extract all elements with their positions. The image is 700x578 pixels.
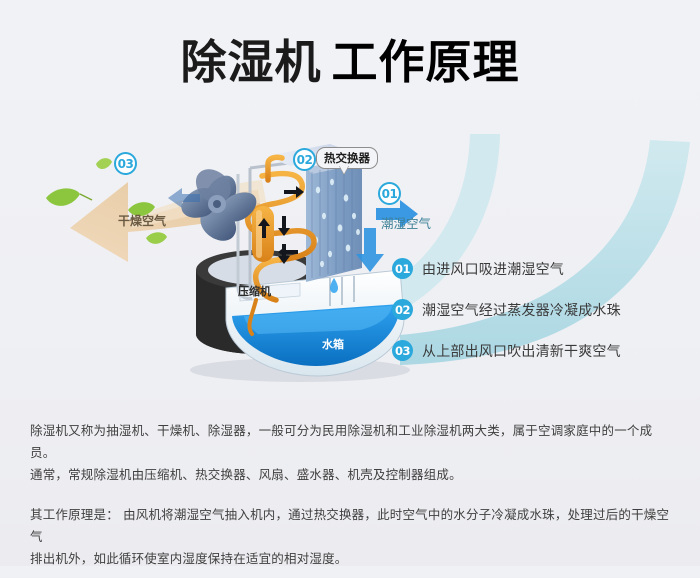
step-text: 潮湿空气经过蒸发器冷凝成水珠 bbox=[422, 300, 621, 320]
step-badge: 01 bbox=[392, 258, 413, 279]
label-dry-air: 干燥空气 bbox=[118, 212, 166, 229]
evaporator-graphic bbox=[306, 156, 368, 282]
description-block: 除湿机又称为抽湿机、干燥机、除湿器，一般可分为民用除湿机和工业除湿机两大类，属于… bbox=[30, 420, 675, 578]
page-title: 除湿机工作原理 bbox=[0, 34, 700, 90]
label-humid-air: 潮湿空气 bbox=[381, 213, 431, 232]
list-item: 02 潮湿空气经过蒸发器冷凝成水珠 bbox=[392, 299, 692, 320]
paragraph-2-line-2: 排出机外，如此循环使室内湿度保持在适宜的相对湿度。 bbox=[30, 551, 348, 566]
badge-dry-air: 03 bbox=[114, 152, 137, 175]
badge-heat-exchanger: 02 bbox=[293, 148, 316, 171]
paragraph-2: 其工作原理是： 由风机将潮湿空气抽入机内，通过热交换器，此时空气中的水分子冷凝成… bbox=[30, 504, 675, 570]
step-badge: 03 bbox=[392, 340, 413, 361]
page-title-part1: 除湿机 bbox=[181, 35, 322, 89]
badge-humid-air: 01 bbox=[378, 182, 401, 205]
label-compressor: 压缩机 bbox=[238, 283, 271, 299]
paragraph-1-line-1: 除湿机又称为抽湿机、干燥机、除湿器，一般可分为民用除湿机和工业除湿机两大类，属于… bbox=[30, 423, 652, 460]
list-item: 03 从上部出风口吹出清新干爽空气 bbox=[392, 340, 692, 361]
infographic-page: 除湿机工作原理 bbox=[0, 0, 700, 566]
paragraph-2-line-1: 其工作原理是： 由风机将潮湿空气抽入机内，通过热交换器，此时空气中的水分子冷凝成… bbox=[30, 507, 669, 544]
step-text: 由进风口吸进潮湿空气 bbox=[422, 259, 564, 279]
paragraph-1-line-2: 通常，常规除湿机由压缩机、热交换器、风扇、盛水器、机壳及控制器组成。 bbox=[30, 467, 462, 482]
page-title-part2: 工作原理 bbox=[332, 35, 520, 89]
callout-tail bbox=[339, 165, 349, 174]
label-water-tank: 水箱 bbox=[322, 336, 344, 352]
paragraph-1: 除湿机又称为抽湿机、干燥机、除湿器，一般可分为民用除湿机和工业除湿机两大类，属于… bbox=[30, 420, 675, 486]
step-badge: 02 bbox=[392, 299, 413, 320]
fan-graphic bbox=[181, 169, 256, 241]
list-item: 01 由进风口吸进潮湿空气 bbox=[392, 258, 692, 279]
step-text: 从上部出风口吹出清新干爽空气 bbox=[422, 341, 621, 361]
step-list: 01 由进风口吸进潮湿空气 02 潮湿空气经过蒸发器冷凝成水珠 03 从上部出风… bbox=[392, 258, 692, 381]
